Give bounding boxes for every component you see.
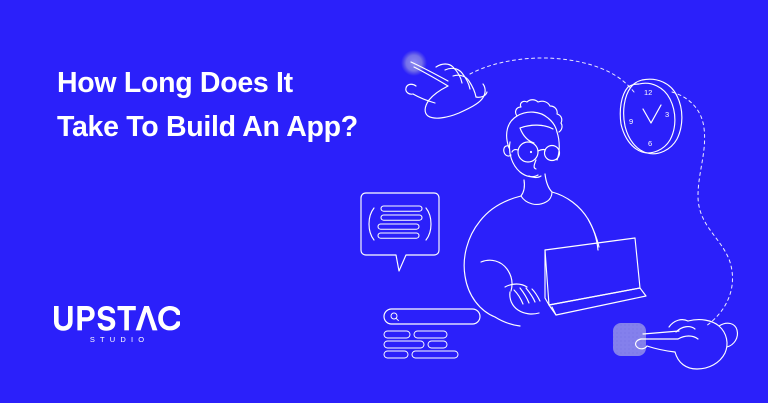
brand-tagline: STUDIO <box>54 336 180 344</box>
page-title: How Long Does It Take To Build An App? <box>57 62 417 149</box>
brand-logo[interactable]: STUDIO <box>54 306 180 344</box>
svg-text:9: 9 <box>629 117 633 126</box>
upstack-wordmark <box>54 306 180 331</box>
svg-text:12: 12 <box>644 88 652 97</box>
blog-header-banner: 12 3 6 9 <box>0 0 768 403</box>
svg-text:3: 3 <box>665 110 669 119</box>
svg-text:6: 6 <box>648 139 652 148</box>
